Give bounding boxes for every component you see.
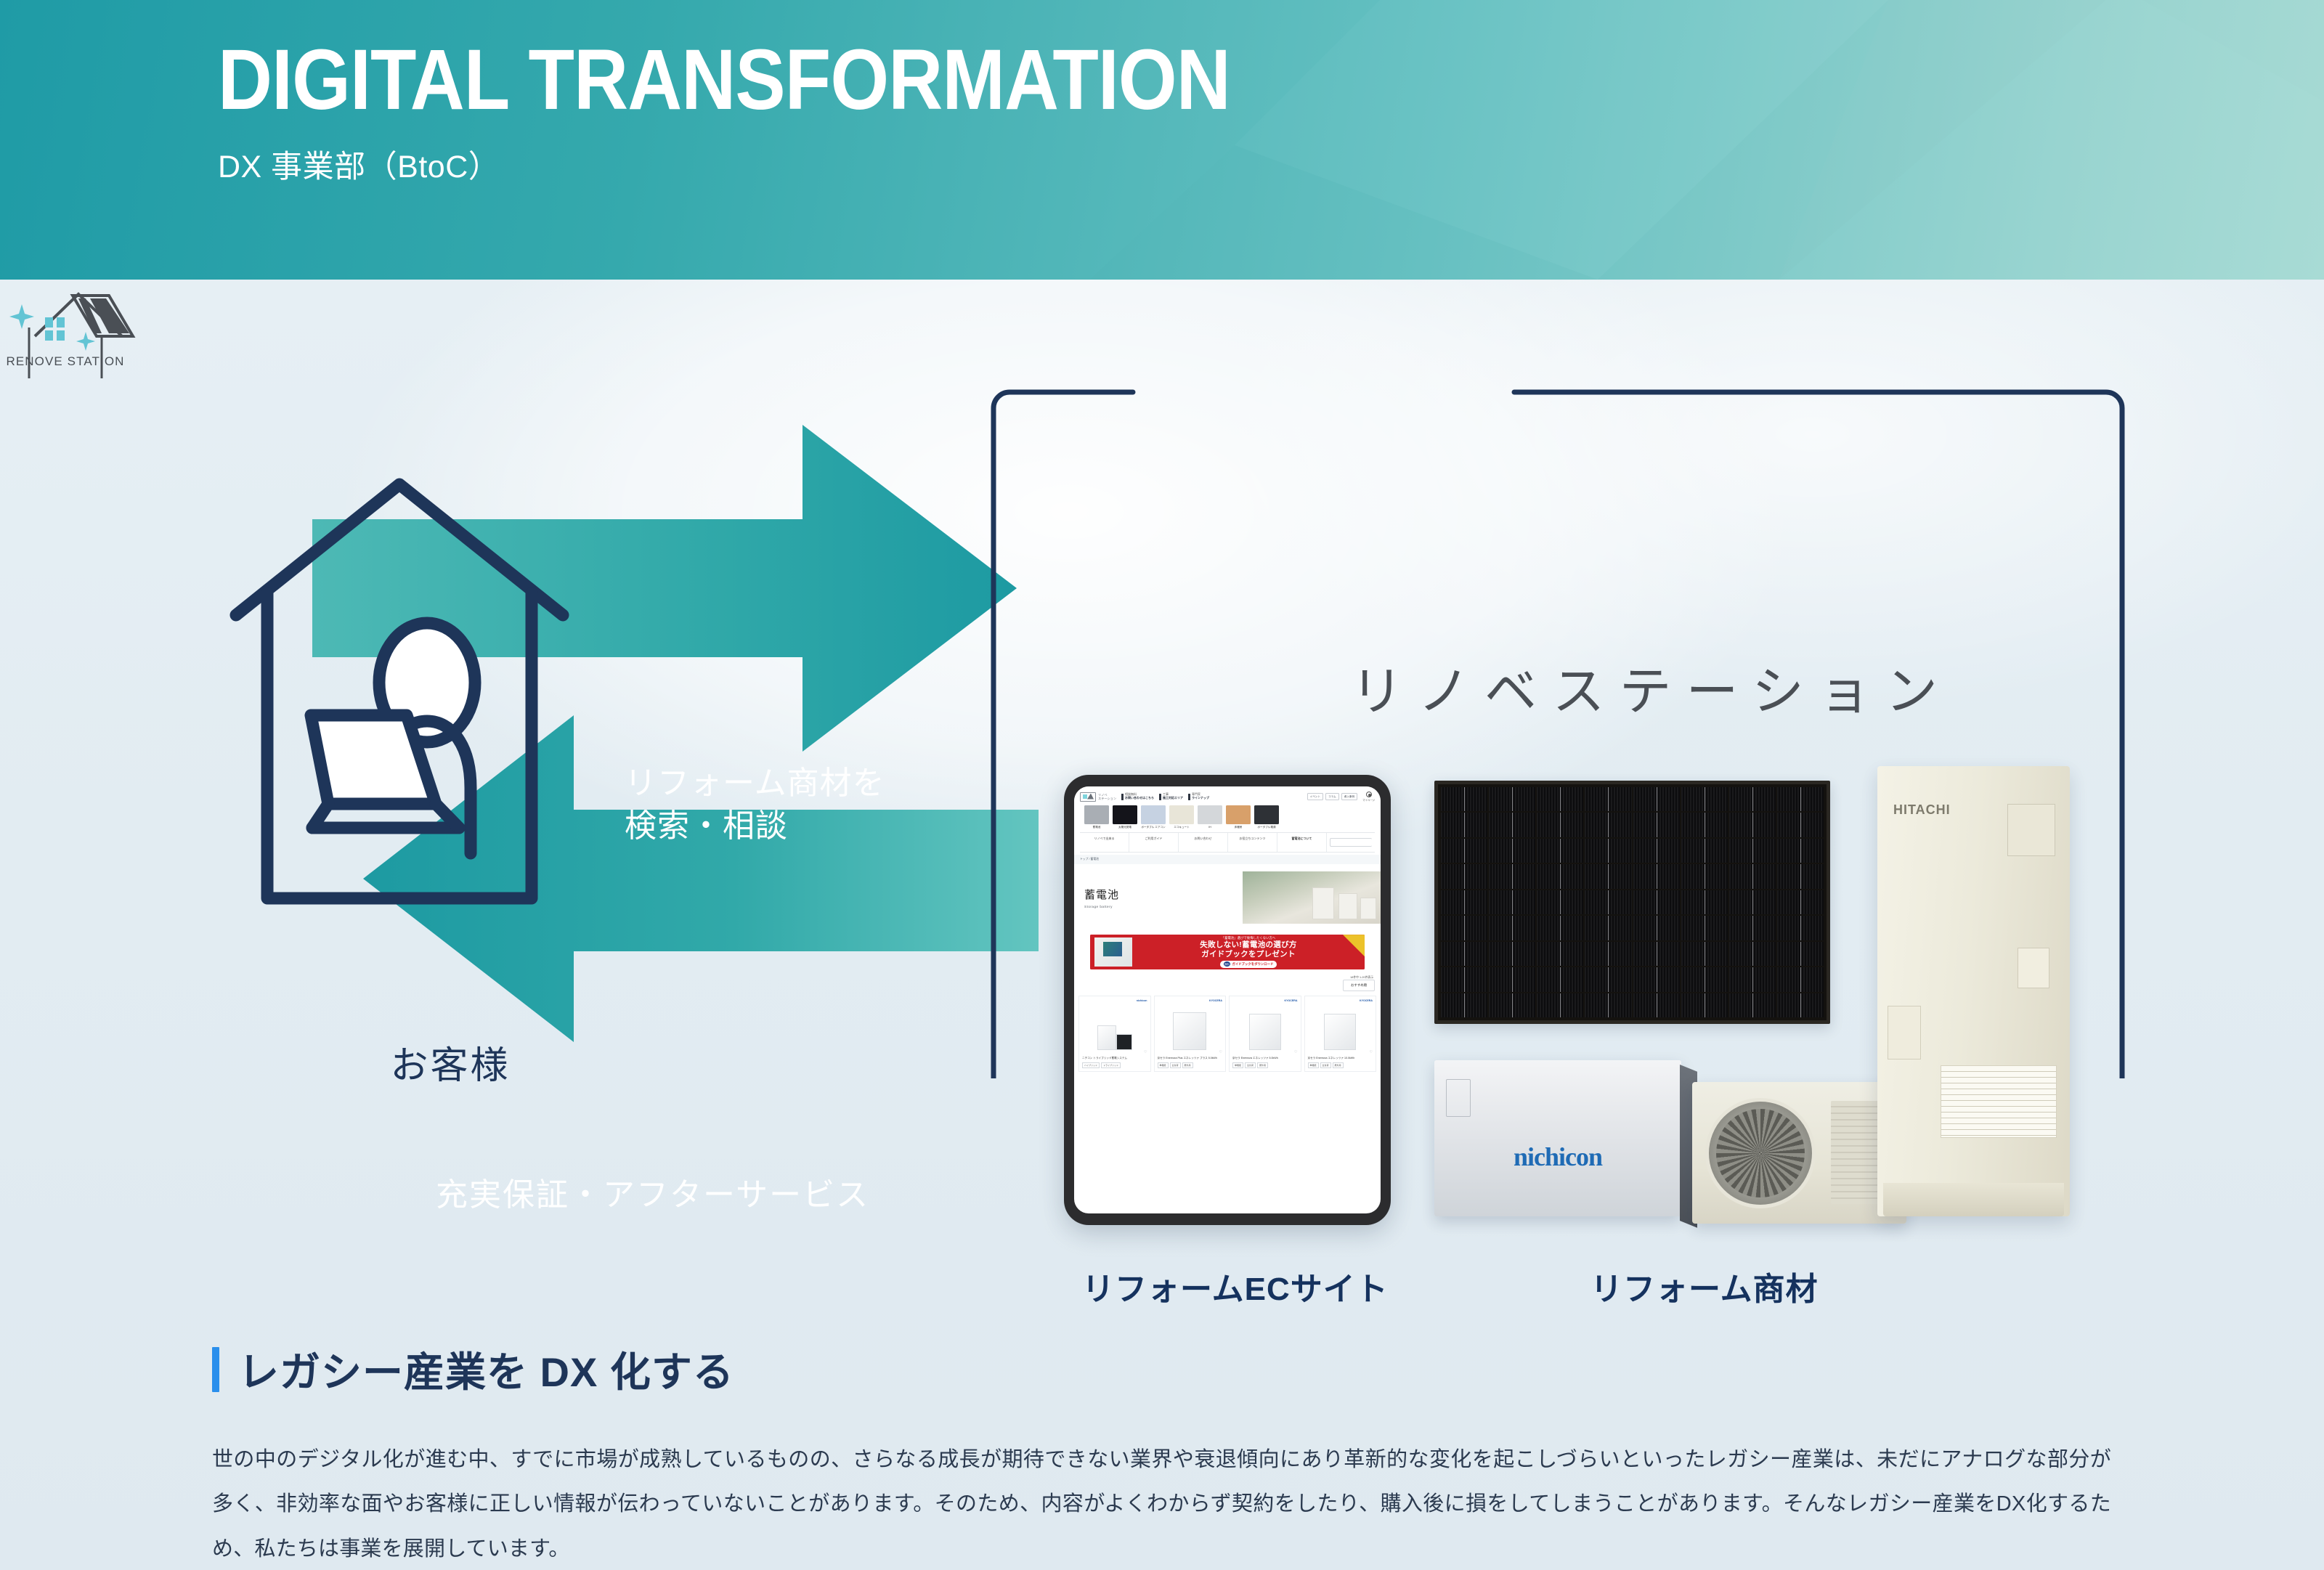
solar-panel-image — [1434, 781, 1830, 1024]
ec-product-card[interactable]: nichicon ♡ ニチコン トライブリッド蓄電システム ハイブリッドトライブ… — [1078, 996, 1151, 1072]
tank-base — [1883, 1183, 2064, 1216]
ec-category-1[interactable]: 太陽光発電 — [1113, 805, 1137, 829]
ec-tab-3[interactable]: お役立ちコンテンツ — [1228, 833, 1277, 852]
ec-product-image-3 — [1308, 1004, 1373, 1050]
ec-product-name-3: 京セラ Enerezza エネレッツァ 10.0kWh — [1308, 1057, 1373, 1060]
ec-product-tag: 屋外用 — [1182, 1062, 1193, 1068]
page-body: リフォーム商材を 検索・相談 充実保証・アフターサービス お客様 RENOVE … — [0, 280, 2324, 1570]
ec-hero-subtitle: Storage battery — [1084, 905, 1119, 908]
ec-product-tag: ハイブリッド — [1082, 1062, 1100, 1068]
ec-site-header: リノベステーション 相談無料お問い合わせはこちら 工事施工対応エリア — [1074, 786, 1381, 855]
customer-label: お客様 — [349, 1035, 552, 1089]
ec-account-label: マイページ — [1362, 799, 1375, 802]
battery-panel-detail — [1446, 1079, 1471, 1117]
ec-logo-mark — [1080, 792, 1096, 802]
ec-category-label-5: 床暖房 — [1226, 826, 1251, 829]
storage-battery-image: nichicon — [1434, 1060, 1681, 1216]
ec-search-input[interactable] — [1330, 838, 1372, 847]
ec-product-tag: 全負荷 — [1170, 1062, 1181, 1068]
ec-category-3[interactable]: エコキュート — [1169, 805, 1194, 829]
ec-category-4[interactable]: IH — [1198, 805, 1222, 829]
ec-category-label-4: IH — [1198, 826, 1222, 829]
guidebook-image — [1094, 937, 1132, 967]
ec-category-label-2: ポータブル エアコン — [1141, 826, 1166, 829]
arrow-bottom-label: 充実保証・アフターサービス — [436, 1174, 869, 1217]
ec-product-image-1 — [1158, 1004, 1223, 1050]
ec-category-strip: 蓄電池 太陽光発電 ポータブル エアコン エコキュート IH 床暖房 ポータブル… — [1080, 802, 1375, 831]
favorite-icon[interactable]: ♡ — [1082, 1050, 1147, 1054]
caption-goods: リフォーム商材 — [1590, 1263, 1819, 1309]
ec-logo-line2: ステーション — [1098, 797, 1116, 800]
ec-category-5[interactable]: 床暖房 — [1226, 805, 1251, 829]
ec-tab-0[interactable]: リノベで出来る — [1080, 833, 1129, 852]
ec-product-grid: nichicon ♡ ニチコン トライブリッド蓄電システム ハイブリッドトライブ… — [1074, 991, 1381, 1072]
tank-spec-label — [1941, 1065, 2057, 1138]
ec-product-image-2 — [1232, 1004, 1298, 1050]
ec-category-6[interactable]: ポータブル電源 — [1254, 805, 1279, 829]
ec-breadcrumb: トップ / 蓄電池 — [1074, 855, 1381, 864]
favorite-icon[interactable]: ♡ — [1308, 1050, 1373, 1054]
ec-category-label-0: 蓄電池 — [1084, 826, 1109, 829]
banner-cta-label: ガイドブックをダウンロード — [1232, 962, 1273, 967]
account-icon — [1366, 792, 1372, 797]
ec-pill-0[interactable]: イベント — [1307, 793, 1323, 800]
battery-brand-label: nichicon — [1434, 1142, 1681, 1172]
tank-panel-top — [2007, 804, 2055, 856]
ec-product-tag: 全負荷 — [1245, 1062, 1256, 1068]
nav-bar-icon — [1121, 794, 1124, 800]
ec-pill-2[interactable]: 導入事例 — [1341, 793, 1357, 800]
tank-sticker — [2018, 948, 2049, 988]
page-title: DIGITAL TRANSFORMATION — [218, 35, 2071, 126]
ec-product-tag: トライブリッド — [1101, 1062, 1121, 1068]
ec-product-name-2: 京セラ Enerezza エネレッツァ 5.0kWh — [1232, 1057, 1298, 1060]
tank-panel-side — [1888, 1006, 1921, 1059]
ec-product-card[interactable]: KYOCERA ♡ 京セラ Enerezza Plus エネレッツァ プラス 5… — [1154, 996, 1227, 1072]
tablet-screen[interactable]: リノベステーション 相談無料お問い合わせはこちら 工事施工対応エリア — [1074, 786, 1381, 1213]
ec-hero-title: 蓄電池 — [1084, 887, 1119, 902]
favorite-icon[interactable]: ♡ — [1232, 1050, 1298, 1054]
ec-product-name-1: 京セラ Enerezza Plus エネレッツァ プラス 5.0kWh — [1158, 1057, 1223, 1060]
banner-cta-button[interactable]: 無料 ガイドブックをダウンロード — [1220, 961, 1277, 968]
page-subtitle: DX 事業部（BtoC） — [218, 142, 2324, 187]
ec-nav-item-0[interactable]: 相談無料お問い合わせはこちら — [1121, 793, 1154, 800]
ec-product-name-0: ニチコン トライブリッド蓄電システム — [1082, 1057, 1147, 1060]
ec-product-tag: 単機能 — [1308, 1062, 1319, 1068]
ec-product-tag: 全負荷 — [1320, 1062, 1331, 1068]
section-title: レガシー産業を DX 化する — [238, 1340, 734, 1399]
ec-site-logo[interactable]: リノベステーション — [1080, 792, 1116, 802]
renove-station-logo-text: RENOVE STATION — [6, 354, 124, 368]
ec-tab-4[interactable]: 蓄電池について — [1277, 833, 1327, 852]
ec-nav-item-2[interactable]: 専門家ラインナップ — [1188, 793, 1209, 800]
ec-nav-main-1: 施工対応エリア — [1163, 797, 1183, 800]
ec-hero: 蓄電池 Storage battery — [1074, 864, 1381, 931]
heat-pump-fan — [1705, 1098, 1816, 1208]
ec-category-label-3: エコキュート — [1169, 826, 1194, 829]
heat-pump-unit-image — [1692, 1082, 1906, 1224]
banner-line2: ガイドブックをプレゼント — [1132, 950, 1365, 959]
page-header: DIGITAL TRANSFORMATION DX 事業部（BtoC） — [0, 0, 2324, 280]
ec-product-image-0 — [1082, 1004, 1147, 1050]
ec-product-tag: 単機能 — [1158, 1062, 1169, 1068]
service-flow-diagram: リフォーム商材を 検索・相談 充実保証・アフターサービス お客様 RENOVE … — [0, 280, 2324, 1078]
ec-result-row: 18件中 1-20件表示 — [1074, 973, 1381, 980]
banner-badge: 無料 — [1224, 961, 1231, 967]
ec-tab-1[interactable]: ご利用ガイド — [1129, 833, 1179, 852]
ec-product-card[interactable]: KYOCERA ♡ 京セラ Enerezza エネレッツァ 5.0kWh 単機能… — [1229, 996, 1301, 1072]
ec-nav-main-2: ラインナップ — [1192, 797, 1209, 800]
ec-product-tag: 屋外用 — [1257, 1062, 1268, 1068]
nav-bar-icon — [1188, 794, 1190, 800]
ec-tab-bar: リノベで出来る ご利用ガイド お問い合わせ お役立ちコンテンツ 蓄電池について — [1080, 832, 1375, 853]
tablet-device: リノベステーション 相談無料お問い合わせはこちら 工事施工対応エリア — [1064, 775, 1391, 1225]
ec-category-label-1: 太陽光発電 — [1113, 826, 1137, 829]
ec-category-label-6: ポータブル電源 — [1254, 826, 1279, 829]
ec-promo-banner[interactable]: 「蓄電池」選びで後悔したくない方へ 失敗しない!蓄電池の選び方 ガイドブックをプ… — [1090, 935, 1365, 969]
brand-wordmark: リノベステーション — [1351, 648, 1952, 725]
ec-account-button[interactable]: マイページ — [1362, 792, 1375, 802]
ec-category-2[interactable]: ポータブル エアコン — [1141, 805, 1166, 829]
section-heading: レガシー産業を DX 化する — [212, 1340, 734, 1399]
ec-nav-item-1[interactable]: 工事施工対応エリア — [1159, 793, 1183, 800]
ec-product-card[interactable]: KYOCERA ♡ 京セラ Enerezza エネレッツァ 10.0kWh 単機… — [1304, 996, 1377, 1072]
ec-product-tag: 単機能 — [1232, 1062, 1243, 1068]
ec-nav-main-0: お問い合わせはこちら — [1125, 797, 1154, 800]
section-accent-bar — [212, 1347, 219, 1392]
ec-pill-1[interactable]: コラム — [1325, 793, 1339, 800]
caption-ec-site: リフォームECサイト — [1082, 1263, 1389, 1309]
arrow-top-label: リフォーム商材を 検索・相談 — [625, 762, 885, 848]
water-heater-tank-image: HITACHI — [1877, 766, 2070, 1216]
ec-sort-select[interactable]: おすすめ順 — [1343, 980, 1375, 991]
ec-category-0[interactable]: 蓄電池 — [1084, 805, 1109, 829]
ec-product-tag: 屋外用 — [1333, 1062, 1344, 1068]
tank-brand-label: HITACHI — [1893, 802, 1951, 818]
banner-line1: 失敗しない!蓄電池の選び方 — [1132, 940, 1365, 950]
section-paragraph-1: 世の中のデジタル化が進む中、すでに市場が成熟しているものの、さらなる成長が期待で… — [212, 1438, 2111, 1570]
renove-station-logo: RENOVE STATION — [0, 280, 182, 396]
ec-hero-image — [1243, 871, 1381, 924]
nav-bar-icon — [1159, 794, 1161, 800]
ec-tab-2[interactable]: お問い合わせ — [1179, 833, 1228, 852]
favorite-icon[interactable]: ♡ — [1158, 1050, 1223, 1054]
banner-kicker: 「蓄電池」選びで後悔したくない方へ — [1132, 936, 1365, 940]
